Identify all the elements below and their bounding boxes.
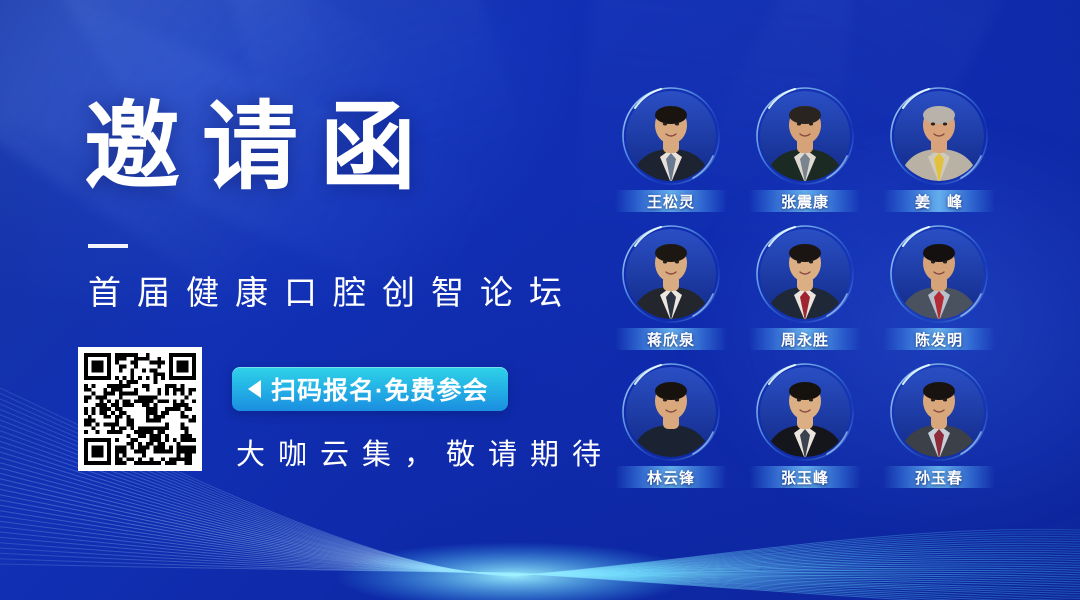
speaker-card: 林云锋 xyxy=(604,362,738,494)
title-divider xyxy=(88,244,128,248)
speaker-name: 孙玉春 xyxy=(915,467,963,488)
triangle-left-icon xyxy=(248,380,261,398)
avatar-ring xyxy=(889,86,989,186)
qr-code-icon[interactable] xyxy=(78,347,202,471)
speaker-nameplate: 陈发明 xyxy=(883,328,995,350)
avatar-ring xyxy=(755,224,855,324)
speaker-name: 周永胜 xyxy=(781,329,829,350)
speaker-name: 张玉峰 xyxy=(781,467,829,488)
page-subtitle: 首届健康口腔创智论坛 xyxy=(88,266,578,314)
scan-register-button[interactable]: 扫码报名·免费参会 xyxy=(232,367,508,411)
speaker-nameplate: 姜 峰 xyxy=(883,190,995,212)
avatar-ring xyxy=(755,86,855,186)
speaker-nameplate: 周永胜 xyxy=(749,328,861,350)
speaker-card: 王松灵 xyxy=(604,86,738,218)
avatar-ring xyxy=(621,362,721,462)
speaker-nameplate: 张震康 xyxy=(749,190,861,212)
speaker-nameplate: 王松灵 xyxy=(615,190,727,212)
speaker-nameplate: 蒋欣泉 xyxy=(615,328,727,350)
speaker-name: 陈发明 xyxy=(915,329,963,350)
speaker-grid: 王松灵张震康姜 峰蒋欣泉周永胜陈发明林云锋张玉峰孙玉春 xyxy=(604,86,1004,494)
avatar-ring xyxy=(755,362,855,462)
speaker-name: 姜 峰 xyxy=(915,191,963,212)
left-content: 邀请函 首届健康口腔创智论坛 扫码报名·免费参会 大咖云集，敬请期待 xyxy=(0,0,600,600)
speaker-nameplate: 张玉峰 xyxy=(749,466,861,488)
invitation-poster: 邀请函 首届健康口腔创智论坛 扫码报名·免费参会 大咖云集，敬请期待 王松灵张震… xyxy=(0,0,1080,600)
speaker-name: 林云锋 xyxy=(647,467,695,488)
scan-register-label: 扫码报名·免费参会 xyxy=(271,371,488,407)
speaker-card: 陈发明 xyxy=(872,224,1006,356)
avatar-ring xyxy=(621,86,721,186)
qr-code-canvas xyxy=(84,353,196,465)
speaker-card: 孙玉春 xyxy=(872,362,1006,494)
avatar-ring xyxy=(889,362,989,462)
speaker-nameplate: 孙玉春 xyxy=(883,466,995,488)
speaker-name: 王松灵 xyxy=(647,191,695,212)
tagline-text: 大咖云集，敬请期待 xyxy=(236,431,614,473)
page-title: 邀请函 xyxy=(84,98,438,199)
speaker-card: 张玉峰 xyxy=(738,362,872,494)
avatar-ring xyxy=(621,224,721,324)
speaker-card: 姜 峰 xyxy=(872,86,1006,218)
speaker-name: 张震康 xyxy=(781,191,829,212)
speaker-nameplate: 林云锋 xyxy=(615,466,727,488)
avatar-ring xyxy=(889,224,989,324)
speaker-card: 蒋欣泉 xyxy=(604,224,738,356)
speaker-card: 周永胜 xyxy=(738,224,872,356)
speaker-card: 张震康 xyxy=(738,86,872,218)
speaker-name: 蒋欣泉 xyxy=(647,329,695,350)
